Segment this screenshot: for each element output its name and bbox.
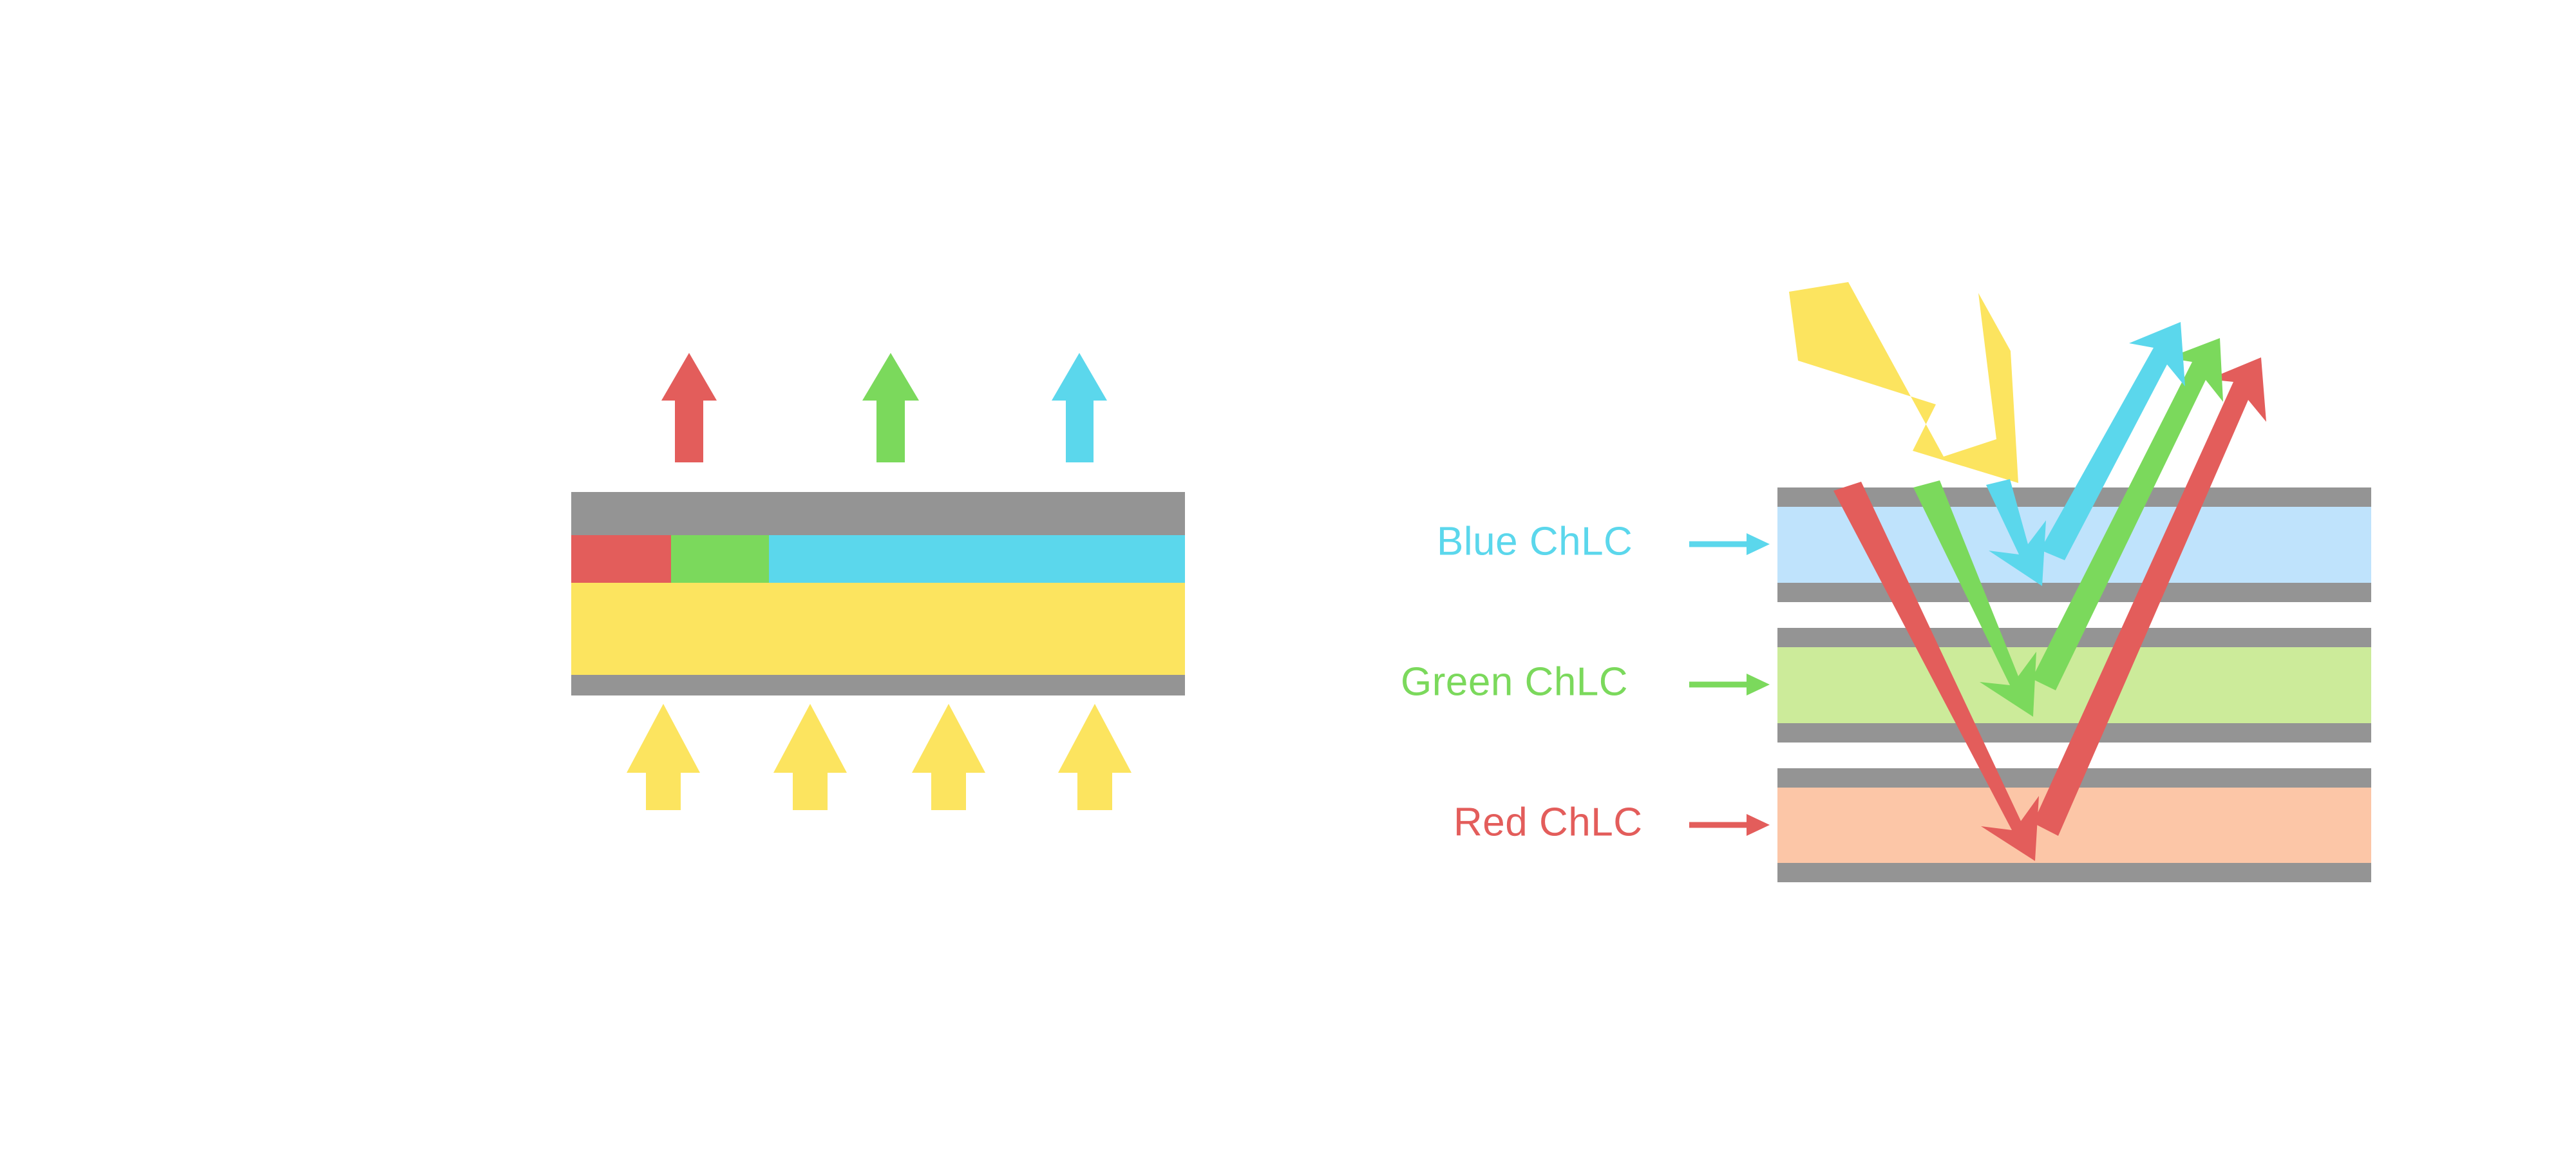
- backlight-arrow: [912, 704, 985, 810]
- blue-emission-arrow: [1052, 353, 1107, 462]
- blue-filter-segment: [769, 535, 1185, 583]
- red-label-arrow-icon: [1689, 814, 1770, 836]
- backlight-layer: [571, 583, 1185, 675]
- backlight-arrow: [627, 704, 700, 810]
- diagram-stage: Blue ChLC Green ChLC Red ChLC: [0, 0, 2576, 1154]
- red-emission-arrow: [661, 353, 717, 462]
- blue-chlc-label: Blue ChLC: [1437, 519, 1633, 563]
- green-chlc-label: Green ChLC: [1401, 659, 1628, 704]
- green-chlc-medium: [1777, 647, 2371, 723]
- bottom-electrode-layer: [571, 675, 1185, 695]
- backlight-arrow: [1058, 704, 1132, 810]
- emitted-arrows-group: [661, 353, 1107, 462]
- green-emission-arrow: [862, 353, 919, 462]
- green-filter-segment: [671, 535, 769, 583]
- right-panel-labels: Blue ChLC Green ChLC Red ChLC: [1401, 519, 1770, 844]
- right-panel-group: Blue ChLC Green ChLC Red ChLC: [1401, 282, 2371, 882]
- red-cell-bottom-substrate: [1777, 863, 2371, 882]
- ambient-light-arrow: [1789, 282, 2018, 483]
- top-electrode-layer: [571, 492, 1185, 535]
- backlight-arrow: [773, 704, 847, 810]
- left-panel-group: [571, 353, 1185, 810]
- green-label-arrow-icon: [1689, 674, 1770, 695]
- chlc-diagram: Blue ChLC Green ChLC Red ChLC: [0, 0, 2576, 1154]
- left-layer-stack: [571, 492, 1185, 695]
- red-filter-segment: [571, 535, 671, 583]
- backlight-arrows-group: [627, 704, 1132, 810]
- red-chlc-label: Red ChLC: [1454, 800, 1642, 844]
- blue-label-arrow-icon: [1689, 533, 1770, 555]
